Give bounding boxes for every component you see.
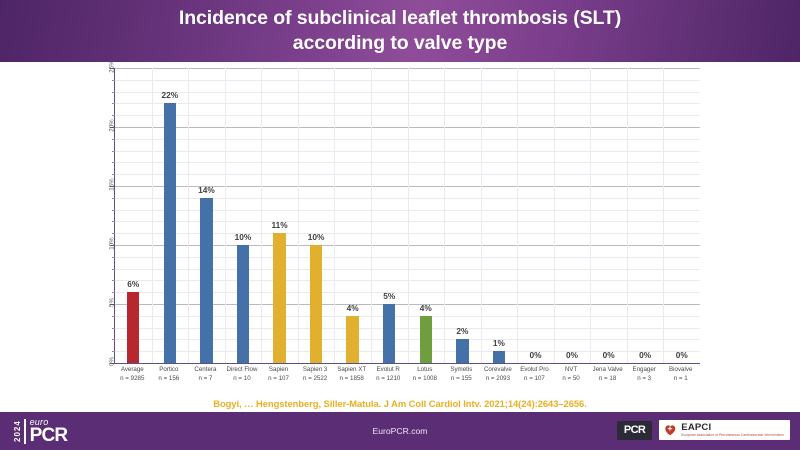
bar-value-label: 11% (261, 220, 298, 230)
bar-value-label: 10% (225, 232, 262, 242)
page-title: Incidence of subclinical leaflet thrombo… (179, 6, 621, 56)
y-axis-tick-minor (112, 162, 115, 163)
y-axis-tick-minor (112, 351, 115, 352)
chart-bar (200, 198, 212, 363)
gridline-vertical (188, 68, 189, 363)
y-axis-tick-minor (112, 292, 115, 293)
bar-chart: 0%5%10%15%20%25%6%22%14%10%11%10%4%5%4%2… (96, 62, 708, 392)
y-axis-tick-minor (112, 174, 115, 175)
gridline-vertical (334, 68, 335, 363)
chart-bar (310, 245, 322, 363)
gridline-vertical (298, 68, 299, 363)
bar-value-label: 14% (188, 185, 225, 195)
gridline-vertical (152, 68, 153, 363)
gridline-vertical (371, 68, 372, 363)
x-axis-category-count: n = 1 (656, 375, 705, 384)
y-axis-label: 20% (109, 113, 116, 139)
bar-value-label: 4% (334, 303, 371, 313)
chart-x-axis-labels: Averagen = 9285Porticon = 156Centeran = … (114, 366, 700, 394)
page-title-line1: Incidence of subclinical leaflet thrombo… (179, 7, 621, 29)
chart-plot-area: 0%5%10%15%20%25%6%22%14%10%11%10%4%5%4%2… (114, 68, 700, 364)
y-axis-tick-minor (112, 80, 115, 81)
gridline-vertical (408, 68, 409, 363)
gridline-vertical (663, 68, 664, 363)
heart-icon (663, 423, 677, 437)
y-axis-tick-minor (112, 316, 115, 317)
y-axis-tick-minor (112, 151, 115, 152)
y-axis-tick-minor (112, 115, 115, 116)
eapci-name: EAPCI (681, 423, 784, 433)
y-axis-tick-minor (112, 103, 115, 104)
y-axis-tick-minor (112, 339, 115, 340)
chart-bar (383, 304, 395, 363)
chart-bar (420, 316, 432, 363)
y-axis-tick-minor (112, 139, 115, 140)
y-axis-label: 5% (109, 290, 116, 316)
gridline-vertical (554, 68, 555, 363)
gridline-vertical (444, 68, 445, 363)
y-axis-tick-minor (112, 269, 115, 270)
bar-value-label: 5% (371, 291, 408, 301)
gridline-vertical (481, 68, 482, 363)
gridline-vertical (627, 68, 628, 363)
y-axis-label: 10% (109, 231, 116, 257)
y-axis-tick-minor (112, 92, 115, 93)
title-banner: Incidence of subclinical leaflet thrombo… (0, 0, 800, 62)
bar-value-label: 0% (590, 350, 627, 360)
gridline-vertical (261, 68, 262, 363)
chart-bar (273, 233, 285, 363)
y-axis-tick-minor (112, 221, 115, 222)
footer-badges: PCR EAPCI European Association of Percut… (617, 420, 790, 440)
footer-bar: 2024 euro PCR EuroPCR.com PCR EAPCI Euro… (0, 412, 800, 450)
chart-bar (127, 292, 139, 363)
y-axis-tick-minor (112, 328, 115, 329)
eapci-text: EAPCI European Association of Percutaneo… (681, 423, 784, 437)
bar-value-label: 22% (152, 90, 189, 100)
y-axis-label: 25% (109, 54, 116, 80)
bar-value-label: 0% (627, 350, 664, 360)
bar-value-label: 0% (517, 350, 554, 360)
gridline-vertical (517, 68, 518, 363)
chart-bar (456, 339, 468, 363)
x-axis-category-name: Biovalve (656, 366, 705, 375)
bar-value-label: 2% (444, 326, 481, 336)
eapci-badge: EAPCI European Association of Percutaneo… (659, 420, 790, 440)
y-axis-label: 15% (109, 172, 116, 198)
chart-bar (237, 245, 249, 363)
bar-value-label: 0% (663, 350, 700, 360)
x-axis-category: Biovalven = 1 (656, 366, 705, 384)
chart-bar (493, 351, 505, 363)
citation-text: Bogyi, … Hengstenberg, Siller-Matula. J … (0, 398, 800, 409)
bar-value-label: 0% (554, 350, 591, 360)
chart-bar (164, 103, 176, 363)
bar-value-label: 4% (408, 303, 445, 313)
pcr-badge: PCR (617, 421, 652, 440)
y-axis-tick-minor (112, 198, 115, 199)
page-title-line2: according to valve type (179, 31, 621, 56)
y-axis-tick-minor (112, 257, 115, 258)
y-axis-tick-minor (112, 210, 115, 211)
y-axis-tick-minor (112, 233, 115, 234)
bar-value-label: 6% (115, 279, 152, 289)
slide-root: Incidence of subclinical leaflet thrombo… (0, 0, 800, 450)
bar-value-label: 10% (298, 232, 335, 242)
gridline-vertical (225, 68, 226, 363)
gridline-vertical (590, 68, 591, 363)
eapci-subtitle: European Association of Percutaneous Car… (681, 434, 784, 437)
chart-bar (346, 316, 358, 363)
bar-value-label: 1% (481, 338, 518, 348)
